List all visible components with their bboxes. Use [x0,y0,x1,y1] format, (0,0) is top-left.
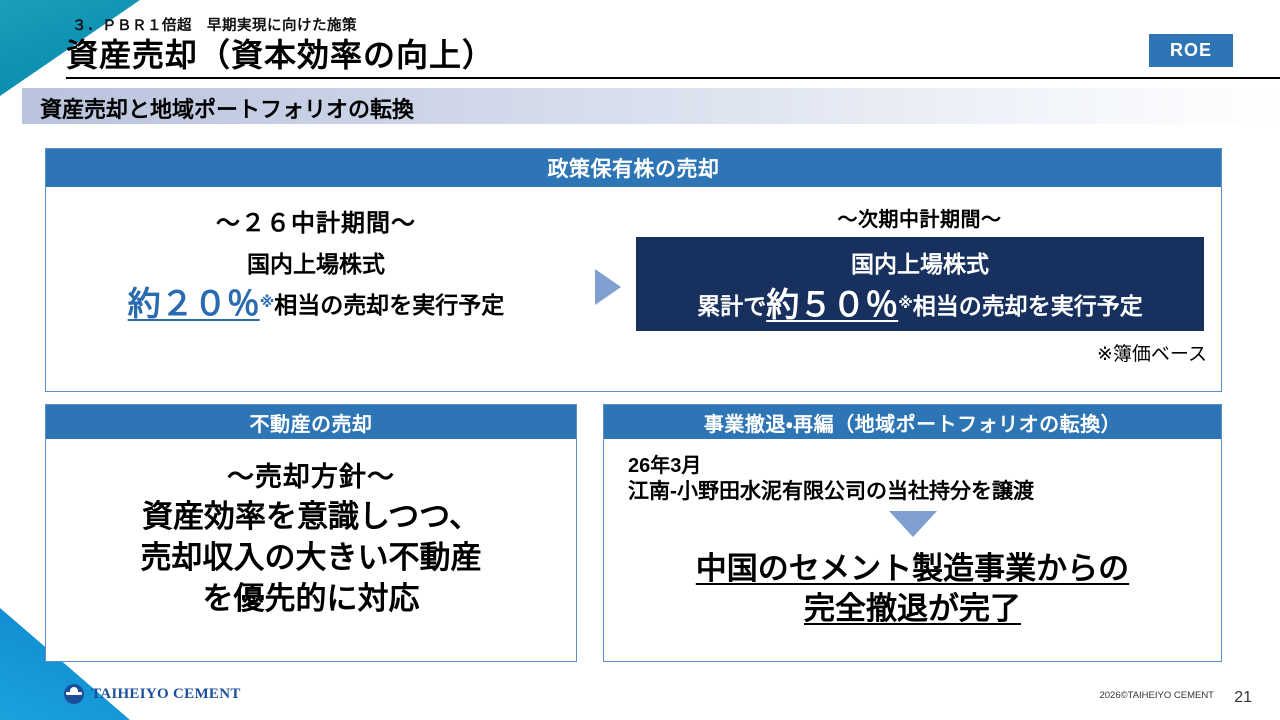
panel-policy-stock-body: ～２６中計期間～ 国内上場株式 約２０％※相当の売却を実行予定 ～次期中計期間～… [46,187,1221,389]
panel-real-estate: 不動産の売却 ～売却方針～ 資産効率を意識しつつ、 売却収入の大きい不動産 を優… [45,404,577,662]
policy-stock-left-line1: 国内上場株式 [46,245,586,279]
policy-stock-left-percent-mark: ※ [260,294,275,311]
policy-stock-highlight-box: 国内上場株式 累計で約５０％※相当の売却を実行予定 [636,237,1204,331]
title-divider [66,77,1280,79]
business-exit-result-line1-text: 中国のセメント製造事業からの [696,551,1129,586]
policy-stock-left-line2-tail: 相当の売却を実行予定 [274,292,504,318]
business-exit-description: 江南-小野田水泥有限公司の当社持分を譲渡 [628,475,1034,505]
taiheiyo-emblem-icon [64,684,84,704]
policy-stock-right-line2: 累計で約５０％※相当の売却を実行予定 [636,278,1204,326]
page-title: 資産売却（資本効率の向上） [66,30,495,76]
page-number: 21 [1234,689,1252,707]
panel-business-exit-header: 事業撤退・再編（地域ポートフォリオの転換） [604,405,1221,439]
policy-stock-right-line2-tail: 相当の売却を実行予定 [913,293,1143,319]
panel-policy-stock: 政策保有株の売却 ～２６中計期間～ 国内上場株式 約２０％※相当の売却を実行予定… [45,148,1222,392]
real-estate-policy-line1: 資産効率を意識しつつ、 [46,497,576,538]
policy-stock-right-column: ～次期中計期間～ 国内上場株式 累計で約５０％※相当の売却を実行予定 ※簿価ベー… [618,187,1221,389]
panel-business-exit: 事業撤退・再編（地域ポートフォリオの転換） 26年3月 江南-小野田水泥有限公司… [603,404,1222,662]
real-estate-policy-line3: を優先的に対応 [46,579,576,620]
panel-business-exit-body: 26年3月 江南-小野田水泥有限公司の当社持分を譲渡 中国のセメント製造事業から… [604,439,1221,659]
copyright-notice: 2026©TAIHEIYO CEMENT [1099,690,1214,701]
policy-stock-right-line1: 国内上場株式 [636,245,1204,279]
policy-stock-left-period: ～２６中計期間～ [46,203,586,238]
panel-real-estate-header: 不動産の売却 [46,405,576,439]
arrow-right-icon [595,269,621,305]
status-badge-roe: ROE [1149,34,1233,67]
business-exit-date: 26年3月 [628,449,701,478]
business-exit-result-line2: 完全撤退が完了 [604,589,1221,629]
company-logo-text: TAIHEIYO CEMENT [91,686,241,703]
policy-stock-footnote: ※簿価ベース [1097,339,1207,366]
policy-stock-right-period: ～次期中計期間～ [618,203,1221,232]
policy-stock-right-line2-head: 累計で [697,293,766,319]
business-exit-result-line2-text: 完全撤退が完了 [804,591,1021,626]
real-estate-policy-text: 資産効率を意識しつつ、 売却収入の大きい不動産 を優先的に対応 [46,497,576,620]
slide-canvas: ３．ＰＢＲ１倍超 早期実現に向けた施策 資産売却（資本効率の向上） ROE 資産… [0,0,1280,720]
policy-stock-left-column: ～２６中計期間～ 国内上場株式 約２０％※相当の売却を実行予定 [46,187,586,389]
panel-policy-stock-header: 政策保有株の売却 [46,149,1221,187]
policy-stock-left-percent: 約２０％ [128,285,260,322]
arrow-down-icon [889,511,937,537]
business-exit-result-line1: 中国のセメント製造事業からの [604,549,1221,589]
section-band-label: 資産売却と地域ポートフォリオの転換 [40,92,414,124]
company-logo: TAIHEIYO CEMENT [64,684,241,704]
panel-real-estate-body: ～売却方針～ 資産効率を意識しつつ、 売却収入の大きい不動産 を優先的に対応 [46,439,576,659]
real-estate-policy-title: ～売却方針～ [46,455,576,494]
business-exit-result: 中国のセメント製造事業からの 完全撤退が完了 [604,549,1221,630]
policy-stock-right-percent: 約５０％ [766,286,898,323]
real-estate-policy-line2: 売却収入の大きい不動産 [46,538,576,579]
policy-stock-left-line2: 約２０％※相当の売却を実行予定 [46,277,586,325]
policy-stock-right-percent-mark: ※ [898,295,913,312]
